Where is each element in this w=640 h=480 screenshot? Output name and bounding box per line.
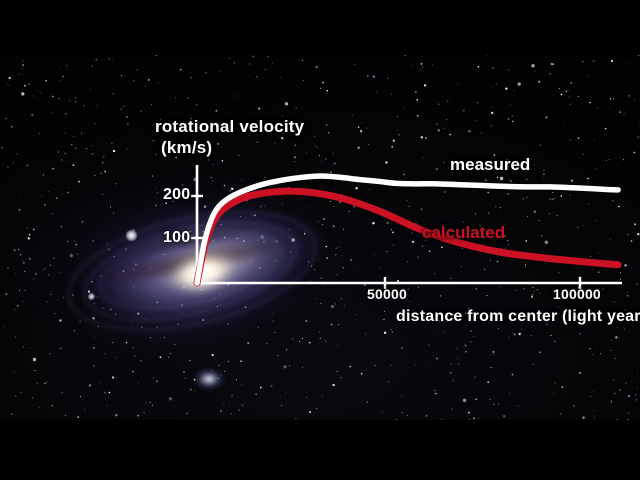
calculated-series-label: calculated (422, 223, 505, 243)
galaxy-arm (56, 190, 328, 352)
galaxy-disk (47, 182, 334, 355)
bright-star (126, 230, 137, 241)
galaxy-arm (74, 202, 307, 340)
bright-star (88, 293, 95, 300)
y-axis-label-line1: rotational velocity (155, 117, 304, 137)
satellite-galaxy (192, 367, 226, 391)
figure-canvas: rotational velocity (km/s) 200 100 50000… (0, 0, 640, 480)
y-tick-label-100: 100 (163, 229, 190, 247)
measured-series-label: measured (450, 155, 530, 175)
x-tick-label-50000: 50000 (367, 286, 407, 302)
galaxy-core (159, 241, 245, 304)
y-tick-label-200: 200 (163, 186, 190, 204)
starfield-stars (0, 55, 640, 420)
y-axis-label-line2: (km/s) (161, 138, 212, 158)
x-tick-label-100000: 100000 (553, 286, 601, 302)
letterbox-bar-bottom (0, 420, 640, 480)
x-axis-label: distance from center (light years) (396, 308, 640, 326)
letterbox-bar-top (0, 0, 640, 55)
starfield (0, 55, 640, 420)
galaxy-dust-lane (74, 225, 310, 299)
galaxy-halo (18, 141, 363, 396)
